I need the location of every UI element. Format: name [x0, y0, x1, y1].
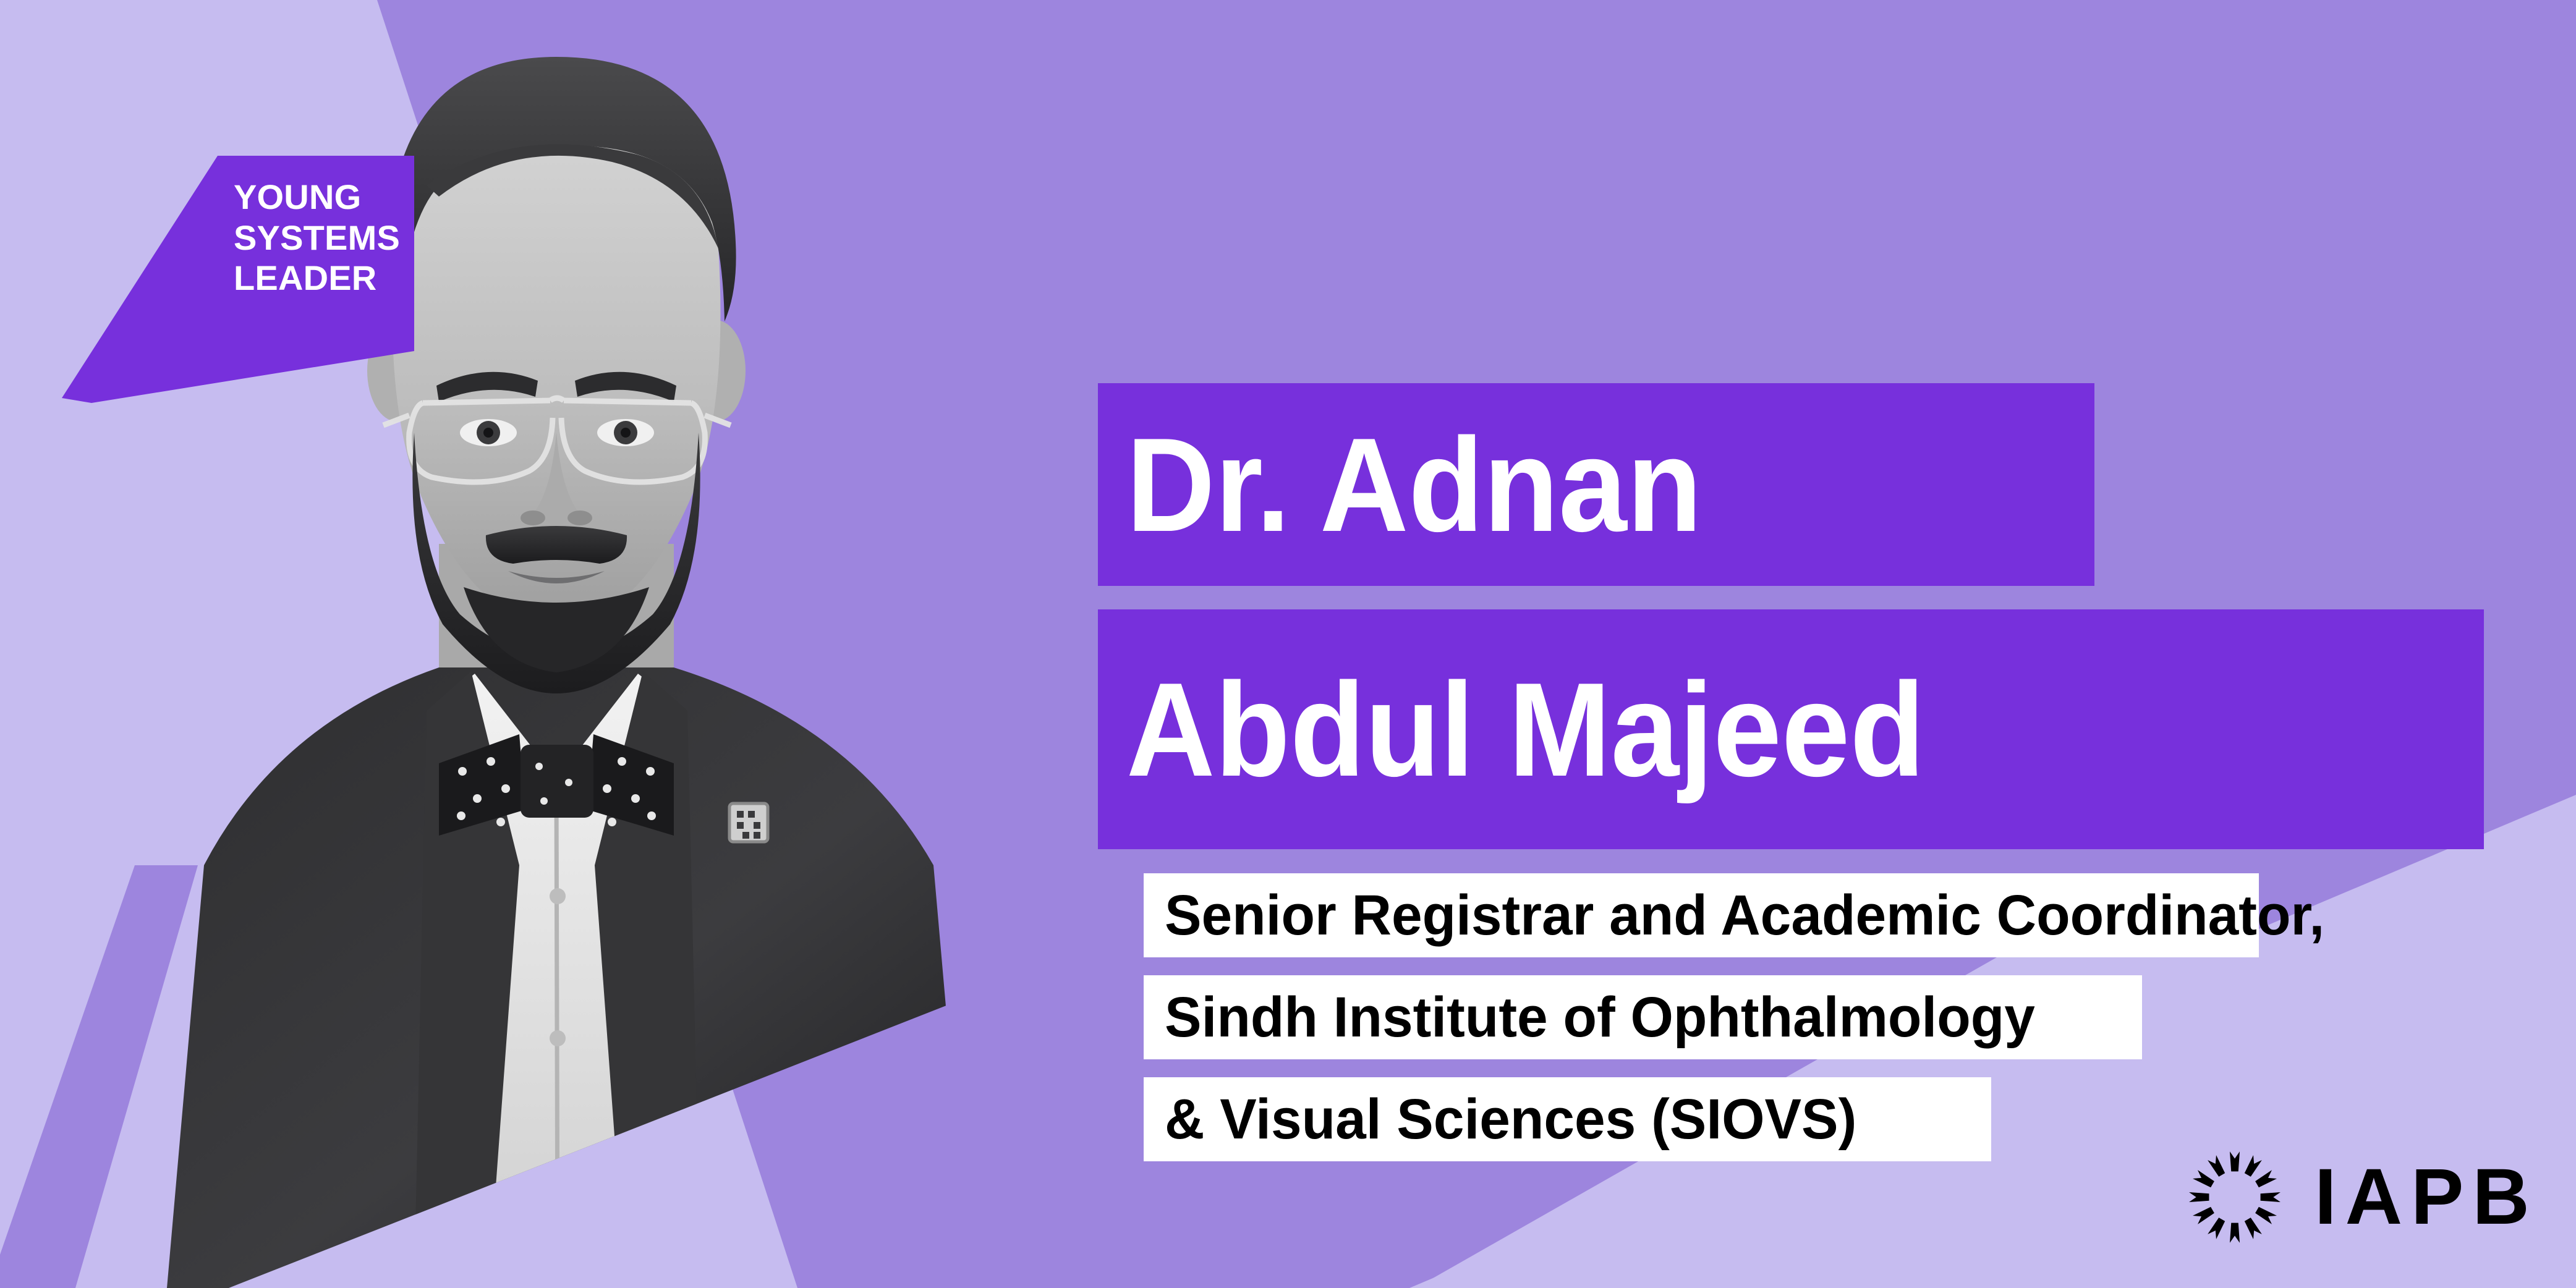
- name-line-2-text: Abdul Majeed: [1126, 663, 1925, 796]
- young-systems-leader-card: YOUNG SYSTEMS LEADER Dr. Adnan Abdul Maj…: [0, 0, 2576, 1288]
- badge-label: YOUNG SYSTEMS LEADER: [234, 177, 413, 299]
- iapb-sunburst-eye-icon: [2187, 1150, 2282, 1245]
- title-line-1-text: Senior Registrar and Academic Coordinato…: [1165, 887, 2324, 944]
- iapb-logo: IAPB: [2187, 1138, 2543, 1256]
- title-line-3-text: & Visual Sciences (SIOVS): [1165, 1091, 1856, 1148]
- title-line-2-text: Sindh Institute of Ophthalmology: [1165, 989, 2035, 1046]
- name-line-2: Abdul Majeed: [1098, 609, 2484, 849]
- name-line-1-text: Dr. Adnan: [1126, 418, 1702, 551]
- title-line-1: Senior Registrar and Academic Coordinato…: [1144, 873, 2259, 957]
- title-line-3: & Visual Sciences (SIOVS): [1144, 1077, 1991, 1161]
- name-line-1: Dr. Adnan: [1098, 383, 2094, 586]
- title-line-2: Sindh Institute of Ophthalmology: [1144, 975, 2142, 1059]
- iapb-wordmark: IAPB: [2315, 1158, 2538, 1237]
